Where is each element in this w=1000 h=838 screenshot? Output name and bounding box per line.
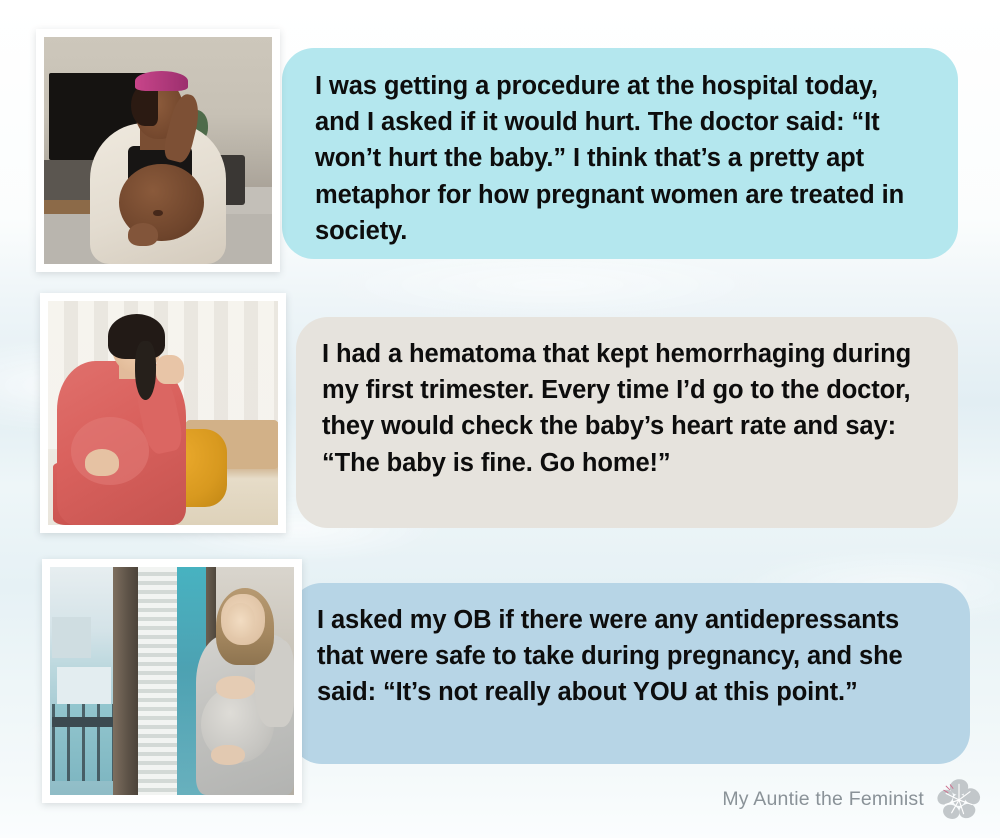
brand-footer: My Auntie the Feminist: [722, 776, 982, 822]
pregnant-woman-window-photo: [42, 559, 302, 803]
testimonial-bubble-1: I was getting a procedure at the hospita…: [282, 48, 958, 259]
testimonial-bubble-2: I had a hematoma that kept hemorrhaging …: [296, 317, 958, 528]
photo-3-image: [50, 567, 294, 795]
pregnant-woman-coral-dress-photo: [40, 293, 286, 533]
testimonial-bubble-3: I asked my OB if there were any antidepr…: [290, 583, 970, 764]
hibiscus-flower-icon: [936, 776, 982, 822]
photo-2-image: [48, 301, 278, 525]
photo-1-image: [44, 37, 272, 264]
pregnant-woman-living-room-photo: [36, 29, 280, 272]
post-canvas: I was getting a procedure at the hospita…: [0, 0, 1000, 838]
brand-name: My Auntie the Feminist: [722, 788, 924, 811]
